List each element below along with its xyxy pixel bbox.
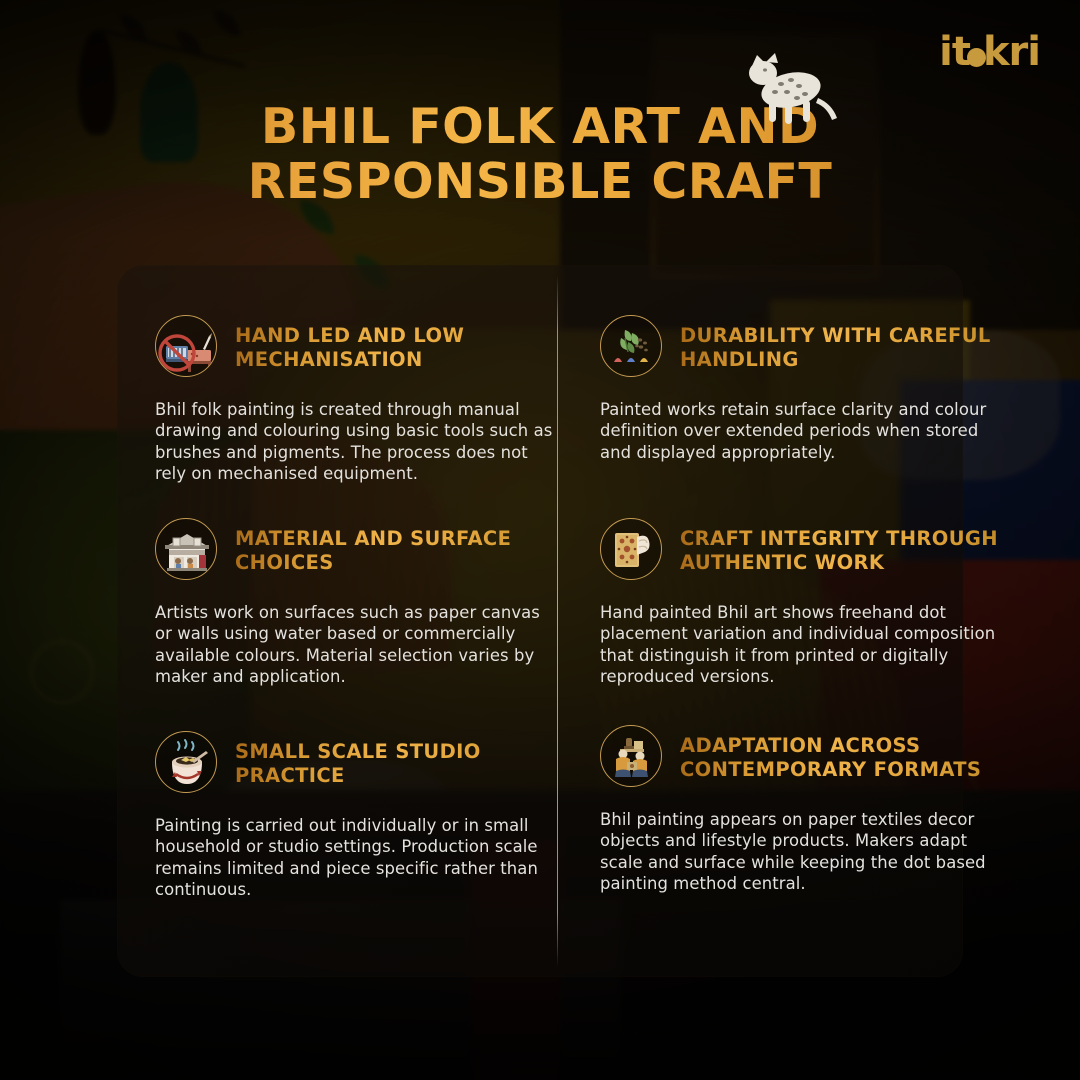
infographic-content: itkri BHIL FOLK ART AND RESPONSIBLE CRAF… <box>0 0 1080 1080</box>
card-title: SMALL SCALE STUDIO PRACTICE <box>235 731 555 788</box>
card-body: Hand painted Bhil art shows freehand dot… <box>600 602 1000 687</box>
right-column: DURABILITY WITH CAREFUL HANDLING Painted… <box>558 265 998 977</box>
page-title: BHIL FOLK ART AND RESPONSIBLE CRAFT <box>150 100 930 210</box>
title-block: BHIL FOLK ART AND RESPONSIBLE CRAFT <box>0 100 1080 210</box>
logo-text-right: kri <box>983 29 1040 75</box>
card-header: ADAPTATION ACROSS CONTEMPORARY FORMATS <box>600 725 1000 787</box>
card-body: Painting is carried out individually or … <box>155 815 555 900</box>
itokri-logo[interactable]: itkri <box>939 32 1040 72</box>
card-body: Bhil folk painting is created through ma… <box>155 399 555 484</box>
card-body: Bhil painting appears on paper textiles … <box>600 809 1000 894</box>
card-craft-integrity-through-authentic-work[interactable]: CRAFT INTEGRITY THROUGH AUTHENTIC WORK H… <box>600 518 1000 687</box>
card-title: ADAPTATION ACROSS CONTEMPORARY FORMATS <box>680 725 1000 782</box>
card-adaptation-across-contemporary-formats[interactable]: ADAPTATION ACROSS CONTEMPORARY FORMATS B… <box>600 725 1000 894</box>
left-column: HAND LED AND LOW MECHANISATION Bhil folk… <box>117 265 557 977</box>
hand-holding-patterned-cloth-icon <box>600 518 662 580</box>
leaves-and-pigments-icon <box>600 315 662 377</box>
card-hand-led-low-mechanisation[interactable]: HAND LED AND LOW MECHANISATION Bhil folk… <box>155 315 555 484</box>
card-small-scale-studio-practice[interactable]: SMALL SCALE STUDIO PRACTICE Painting is … <box>155 731 555 900</box>
card-body: Painted works retain surface clarity and… <box>600 399 1000 463</box>
card-header: HAND LED AND LOW MECHANISATION <box>155 315 555 377</box>
card-title: CRAFT INTEGRITY THROUGH AUTHENTIC WORK <box>680 518 1000 575</box>
card-header: DURABILITY WITH CAREFUL HANDLING <box>600 315 1000 377</box>
card-header: SMALL SCALE STUDIO PRACTICE <box>155 731 555 793</box>
content-panel: HAND LED AND LOW MECHANISATION Bhil folk… <box>117 265 963 977</box>
card-title: HAND LED AND LOW MECHANISATION <box>235 315 555 372</box>
no-machine-icon <box>155 315 217 377</box>
card-header: CRAFT INTEGRITY THROUGH AUTHENTIC WORK <box>600 518 1000 580</box>
steaming-pot-icon <box>155 731 217 793</box>
card-durability-with-careful-handling[interactable]: DURABILITY WITH CAREFUL HANDLING Painted… <box>600 315 1000 463</box>
two-artisans-icon <box>600 725 662 787</box>
card-header: MATERIAL AND SURFACE CHOICES <box>155 518 555 580</box>
craft-shop-icon <box>155 518 217 580</box>
card-material-and-surface-choices[interactable]: MATERIAL AND SURFACE CHOICES Artists wor… <box>155 518 555 687</box>
card-title: DURABILITY WITH CAREFUL HANDLING <box>680 315 1000 372</box>
card-title: MATERIAL AND SURFACE CHOICES <box>235 518 555 575</box>
card-body: Artists work on surfaces such as paper c… <box>155 602 555 687</box>
logo-text-left: it <box>939 29 970 75</box>
